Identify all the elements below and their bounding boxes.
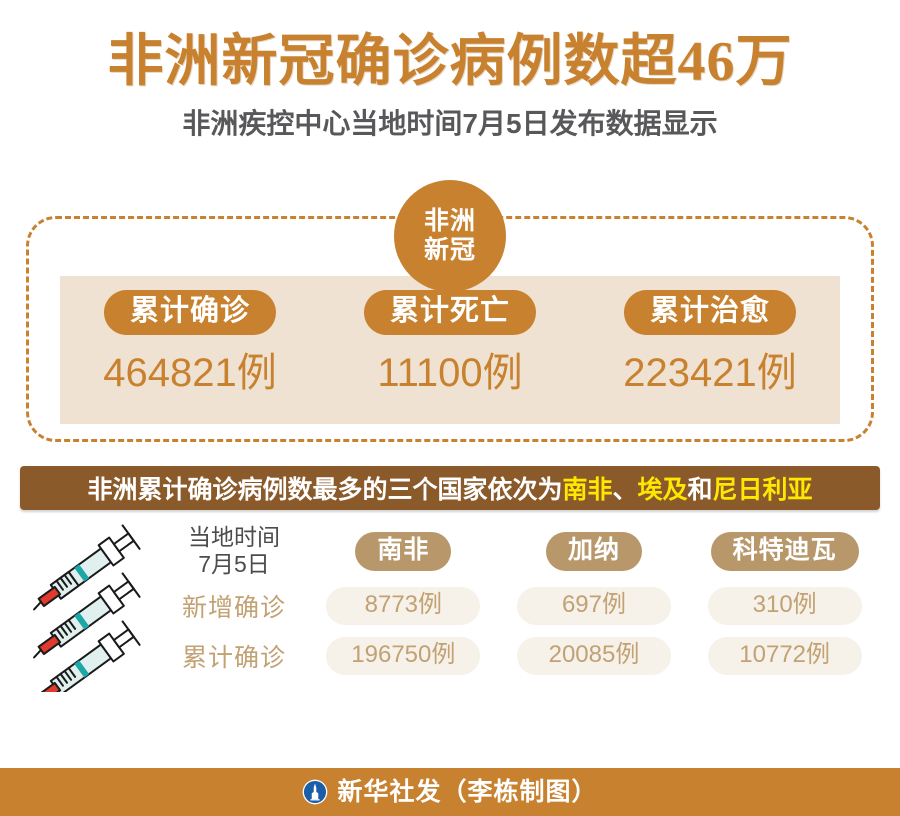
xinhua-logo-icon <box>302 779 328 805</box>
row-label-new-cases: 新增确诊 <box>182 588 286 624</box>
column-header-country-3: 科特迪瓦 <box>711 532 859 571</box>
page-subtitle: 非洲疾控中心当地时间7月5日发布数据显示 <box>0 110 900 138</box>
table-cell: 697例 <box>517 587 671 625</box>
stat-label: 累计确诊 <box>104 290 276 335</box>
date-label: 当地时间 7月5日 <box>188 524 280 578</box>
footer-credit: 新华社发（李栋制图） <box>337 780 597 805</box>
stat-box-recovered: 累计治愈 223421例 <box>580 276 840 424</box>
syringes-illustration <box>18 522 168 692</box>
country-data-table: 当地时间 7月5日 南非 加纳 科特迪瓦 新增确诊 8773例 697例 310… <box>160 522 880 680</box>
column-header-country-1: 南非 <box>355 532 451 571</box>
table-cell: 8773例 <box>326 587 480 625</box>
stat-label: 累计死亡 <box>364 290 536 335</box>
date-label-line-2: 7月5日 <box>188 551 280 578</box>
stat-value: 464821例 <box>103 353 276 393</box>
banner-country-2: 埃及 <box>638 470 688 506</box>
summary-panel: 非洲 新冠 累计确诊 464821例 累计死亡 11100例 累计治愈 2234… <box>26 180 874 442</box>
banner-prefix: 非洲累计确诊病例数最多的三个国家依次为 <box>87 470 562 506</box>
stats-row: 累计确诊 464821例 累计死亡 11100例 累计治愈 223421例 <box>60 276 840 424</box>
page-title: 非洲新冠确诊病例数超46万 <box>0 34 900 90</box>
top-countries-banner: 非洲累计确诊病例数最多的三个国家依次为南非、埃及和尼日利亚 <box>20 466 880 510</box>
badge-line-1: 非洲 <box>424 207 476 237</box>
stat-value: 223421例 <box>623 353 796 393</box>
footer: 新华社发（李栋制图） <box>0 768 900 816</box>
banner-separator-1: 、 <box>612 470 637 506</box>
banner-country-1: 南非 <box>562 470 612 506</box>
banner-country-3: 尼日利亚 <box>713 470 813 506</box>
stat-box-confirmed: 累计确诊 464821例 <box>60 276 320 424</box>
column-header-country-2: 加纳 <box>546 532 642 571</box>
table-cell: 310例 <box>708 587 862 625</box>
africa-covid-badge: 非洲 新冠 <box>394 180 506 292</box>
banner-separator-2: 和 <box>688 470 713 506</box>
badge-line-2: 新冠 <box>424 236 476 266</box>
table-cell: 196750例 <box>326 637 480 675</box>
row-label-total-cases: 累计确诊 <box>182 638 286 674</box>
stat-box-deaths: 累计死亡 11100例 <box>320 276 580 424</box>
country-data-section: 当地时间 7月5日 南非 加纳 科特迪瓦 新增确诊 8773例 697例 310… <box>0 522 900 692</box>
stat-label: 累计治愈 <box>624 290 796 335</box>
header: 非洲新冠确诊病例数超46万 非洲疾控中心当地时间7月5日发布数据显示 <box>0 0 900 138</box>
table-cell: 20085例 <box>517 637 671 675</box>
date-label-line-1: 当地时间 <box>188 524 280 551</box>
table-cell: 10772例 <box>708 637 862 675</box>
stat-value: 11100例 <box>377 353 522 393</box>
